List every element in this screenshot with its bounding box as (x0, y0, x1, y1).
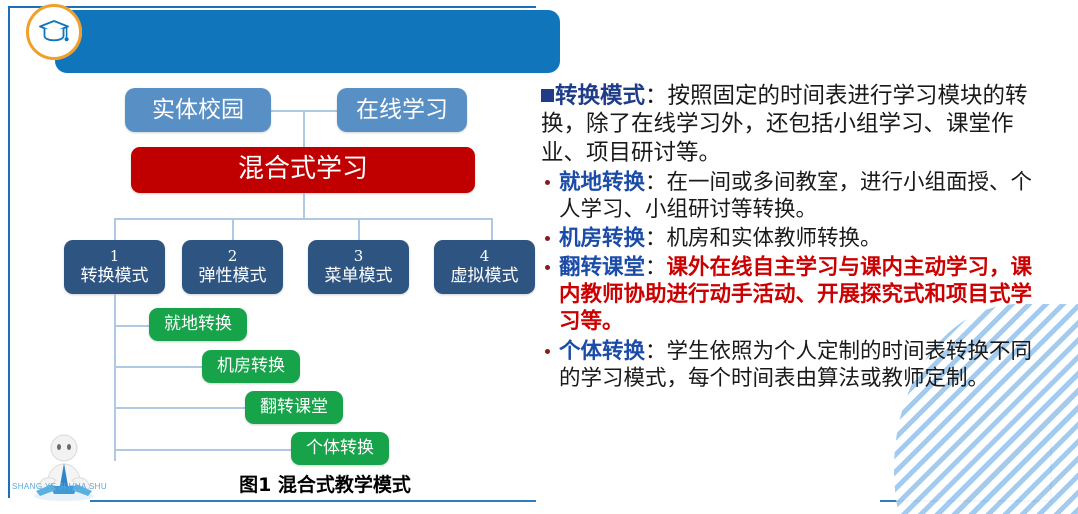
connector-to-green-4 (114, 449, 302, 451)
node-online-learning-label: 在线学习 (356, 97, 448, 123)
main-bullet-keyword: 转换模式 (555, 83, 645, 109)
node-mode-2-flex[interactable]: 2 弹性模式 (182, 240, 283, 294)
connector-branch-3 (358, 218, 360, 240)
connector-main-down (303, 193, 305, 218)
figure-caption: 图1 混合式教学模式 (160, 470, 490, 497)
node-green-4-label: 个体转换 (306, 439, 374, 459)
connector-to-green-1 (114, 325, 150, 327)
connector-branch-1 (114, 218, 116, 240)
sub-bullet-1-keyword: 就地转换 (559, 170, 645, 195)
logo-caption: SHANG YE JI HUA SHU (12, 482, 107, 491)
connector-branch-4 (491, 218, 493, 240)
sub-bullet-2-body: 机房和实体教师转换。 (667, 226, 882, 251)
round-bullet-icon (545, 236, 550, 241)
node-mode-3-label: 菜单模式 (325, 266, 393, 287)
node-green-in-place-rotation[interactable]: 就地转换 (149, 308, 247, 341)
main-bullet-paragraph: 转换模式：按照固定的时间表进行学习模块的转换，除了在线学习外，还包括小组学习、课… (541, 82, 1053, 167)
node-green-1-label: 就地转换 (164, 315, 232, 335)
node-blended-learning-label: 混合式学习 (238, 155, 368, 185)
node-green-2-label: 机房转换 (217, 357, 285, 377)
node-mode-4-label: 虚拟模式 (451, 266, 519, 287)
connector-branch-bus (114, 218, 492, 220)
sub-bullet-4-colon: ： (645, 339, 667, 364)
sub-bullet-4-keyword: 个体转换 (559, 339, 645, 364)
connector-to-green-2 (114, 366, 213, 368)
sub-bullet-3-keyword: 翻转课堂 (559, 255, 645, 280)
connector-to-green-3 (114, 407, 256, 409)
sub-bullet-3-colon: ： (645, 255, 667, 280)
node-physical-campus-label: 实体校园 (152, 97, 244, 123)
node-mode-1-label: 转换模式 (81, 266, 149, 287)
node-mode-2-number: 2 (228, 247, 238, 266)
sub-bullet-2-colon: ： (645, 226, 667, 251)
node-physical-campus[interactable]: 实体校园 (125, 88, 271, 132)
sub-bullet-item-3: 翻转课堂：课外在线自主学习与课内主动学习，课内教师协助进行动手活动、开展探究式和… (541, 254, 1053, 335)
node-mode-4-number: 4 (480, 247, 490, 266)
connector-spine-mode-1 (114, 294, 116, 461)
node-mode-4-virtual[interactable]: 4 虚拟模式 (434, 240, 535, 294)
sub-bullet-1-colon: ： (645, 170, 667, 195)
round-bullet-icon (545, 180, 550, 185)
node-mode-1-rotation[interactable]: 1 转换模式 (64, 240, 165, 294)
company-logo-icon (16, 428, 112, 504)
node-mode-1-number: 1 (110, 247, 120, 266)
text-panel: 转换模式：按照固定的时间表进行学习模块的转换，除了在线学习外，还包括小组学习、课… (541, 82, 1053, 392)
node-green-3-label: 翻转课堂 (260, 398, 328, 418)
node-blended-learning[interactable]: 混合式学习 (131, 147, 475, 193)
sub-bullet-item-1: 就地转换：在一间或多间教室，进行小组面授、个人学习、小组研讨等转换。 (541, 169, 1053, 223)
sub-bullet-2-keyword: 机房转换 (559, 226, 645, 251)
connector-top-to-main (303, 110, 305, 147)
node-mode-3-number: 3 (354, 247, 364, 266)
sub-bullet-item-4: 个体转换：学生依照为个人定制的时间表转换不同的学习模式，每个时间表由算法或教师定… (541, 338, 1053, 392)
connector-branch-2 (232, 218, 234, 240)
main-bullet-colon: ： (645, 83, 668, 109)
round-bullet-icon (545, 349, 550, 354)
node-green-individual-rotation[interactable]: 个体转换 (291, 432, 389, 465)
node-green-flipped-classroom[interactable]: 翻转课堂 (245, 391, 343, 424)
square-bullet-icon (541, 89, 554, 102)
node-online-learning[interactable]: 在线学习 (337, 88, 467, 132)
sub-bullet-item-2: 机房转换：机房和实体教师转换。 (541, 225, 1053, 252)
node-green-lab-rotation[interactable]: 机房转换 (202, 350, 300, 383)
node-mode-2-label: 弹性模式 (199, 266, 267, 287)
node-mode-3-menu[interactable]: 3 菜单模式 (308, 240, 409, 294)
round-bullet-icon (545, 265, 550, 270)
slide-canvas: 混合式教学的基本模式 实体校园 在线学习 混合式学习 1 转换模式 2 (0, 0, 1078, 514)
